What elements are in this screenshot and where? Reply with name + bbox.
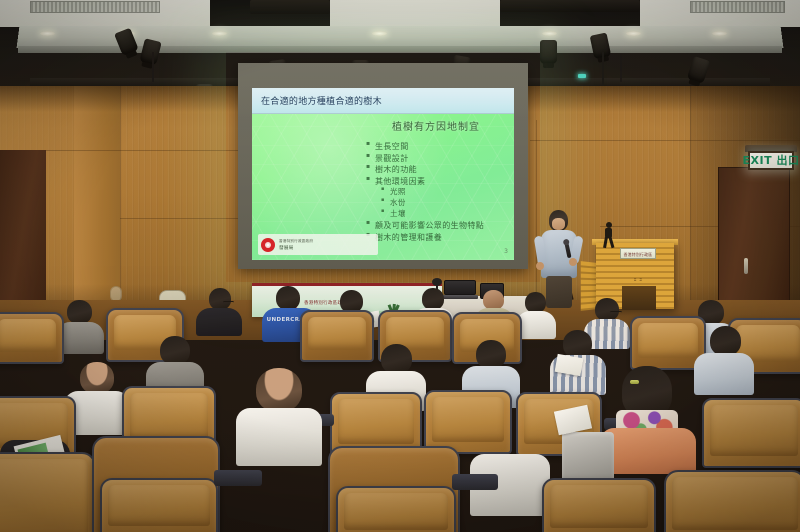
attendee-head	[381, 344, 412, 374]
slide-bullet: 樹木的功能	[364, 164, 508, 176]
attendee-head	[595, 298, 619, 321]
ceiling-projector-mount	[250, 0, 330, 14]
seat-armrest	[214, 470, 262, 486]
lectern-marking: ⌗ ⌗	[634, 277, 643, 282]
slide-footer-logo: 香港特別行政區政府 發展局	[258, 234, 378, 255]
slide-sub-bullet: 水份	[364, 198, 508, 209]
slide-bullet: 生長空間	[364, 141, 508, 153]
seat-cushion[interactable]	[100, 478, 218, 532]
slide-footer-org: 香港特別行政區政府	[279, 239, 313, 244]
slide-bullet: 景觀設計	[364, 153, 508, 165]
slide-bullet-list: 生長空間 景觀設計 樹木的功能 其他環境因素 光照 水份 土壤 顧及可能影響公眾…	[364, 141, 508, 243]
attendee-head	[276, 286, 300, 310]
attendee-foreground-center	[236, 368, 322, 462]
slide-footer-text: 香港特別行政區政府 發展局	[279, 239, 313, 251]
seat[interactable]	[0, 312, 64, 364]
ceiling-cable	[620, 54, 622, 82]
attendee-head	[67, 300, 92, 324]
seat[interactable]	[300, 310, 374, 362]
wall-panel-seam	[530, 140, 800, 141]
hair-clip	[630, 380, 639, 384]
attendee-head	[160, 336, 190, 365]
slide-bullet: 其他環境因素	[364, 176, 508, 188]
presenter-right-hand	[569, 258, 577, 266]
decorative-figure-sculpture	[600, 222, 618, 248]
downlight	[212, 31, 227, 36]
attendee-head	[563, 330, 592, 358]
slide-bullet: 顧及可能影響公眾的生物特點	[364, 220, 508, 232]
wall-panel-seam	[120, 218, 240, 219]
stage-spotlight	[540, 40, 557, 64]
seat-cushion[interactable]	[336, 486, 456, 532]
slide-page-number: 3	[504, 248, 508, 255]
attendee-head	[710, 326, 741, 356]
air-vent-right	[690, 1, 785, 13]
downlight	[712, 31, 727, 36]
lectern-sign: 香港特別行政區	[620, 248, 656, 259]
exit-sign-label: EXIT 出口	[743, 155, 800, 166]
slide-bullet: 樹木的管理和護養	[364, 232, 508, 244]
downlight	[542, 31, 557, 36]
door-handle[interactable]	[744, 258, 748, 274]
slide-sub-bullet: 光照	[364, 187, 508, 198]
bauhinia-emblem-icon	[261, 238, 275, 252]
seat[interactable]	[664, 470, 800, 532]
presenter-face	[552, 218, 565, 230]
slide-footer-dept: 發展局	[279, 245, 313, 251]
attendee-glasses-suit	[196, 288, 242, 334]
slide-content: 植樹有方因地制宜 生長空間 景觀設計 樹木的功能 其他環境因素 光照 水份 土壤…	[364, 118, 508, 243]
seat[interactable]	[542, 478, 656, 532]
ceiling-plaster-center	[330, 0, 500, 27]
attendee-head	[256, 368, 302, 412]
seat[interactable]	[702, 398, 800, 468]
attendee-torso	[600, 428, 696, 474]
slide-sub-bullet: 土壤	[364, 209, 508, 220]
attendee-striped-right	[550, 330, 606, 392]
attendee-head	[483, 290, 504, 310]
attendee-torso	[196, 308, 242, 336]
attendee-torso	[236, 408, 322, 466]
seat[interactable]	[0, 452, 96, 532]
presenter-left-hand	[536, 262, 544, 270]
seat-armrest	[452, 474, 498, 490]
ceiling-cable	[152, 52, 154, 82]
attendee-far-right	[694, 326, 754, 392]
attendee-head	[525, 292, 546, 313]
truss-led-indicator	[578, 74, 586, 78]
attendee-head	[209, 288, 231, 310]
presentation-slide: 在合適的地方種植合適的樹木 植樹有方因地制宜 生長空間 景觀設計 樹木的功能 其…	[252, 88, 514, 260]
attendee-foreground-right	[470, 430, 550, 514]
ceiling-rail	[500, 0, 640, 12]
exit-sign: EXIT 出口	[748, 151, 794, 170]
slide-title: 在合適的地方種植合適的樹木	[261, 94, 382, 107]
projection-screen: 在合適的地方種植合適的樹木 植樹有方因地制宜 生長空間 景觀設計 樹木的功能 其…	[252, 88, 514, 260]
screenshot-root: EXIT 出口 在合適的地方種植合適的樹木 植樹有方因地制宜 生長空間 景觀設計…	[0, 0, 800, 532]
downlight	[626, 31, 641, 36]
slide-heading: 植樹有方因地制宜	[364, 118, 508, 133]
slide-title-bar: 在合適的地方種植合適的樹木	[252, 88, 514, 114]
attendee-torso	[694, 353, 754, 395]
attendee-head	[476, 340, 506, 369]
attendee-woman-orange-scarf	[600, 366, 696, 470]
downlight	[372, 31, 387, 36]
lectern-sign-label: 香港特別行政區	[621, 252, 655, 258]
side-door-left[interactable]	[0, 150, 46, 322]
eyeglasses-icon	[610, 311, 622, 314]
air-vent-left	[30, 1, 160, 13]
eyeglasses-icon	[223, 301, 234, 304]
downlight	[40, 31, 55, 36]
attendee-head	[422, 288, 444, 310]
attendee-head	[80, 362, 114, 394]
ceiling-cable	[602, 52, 604, 86]
